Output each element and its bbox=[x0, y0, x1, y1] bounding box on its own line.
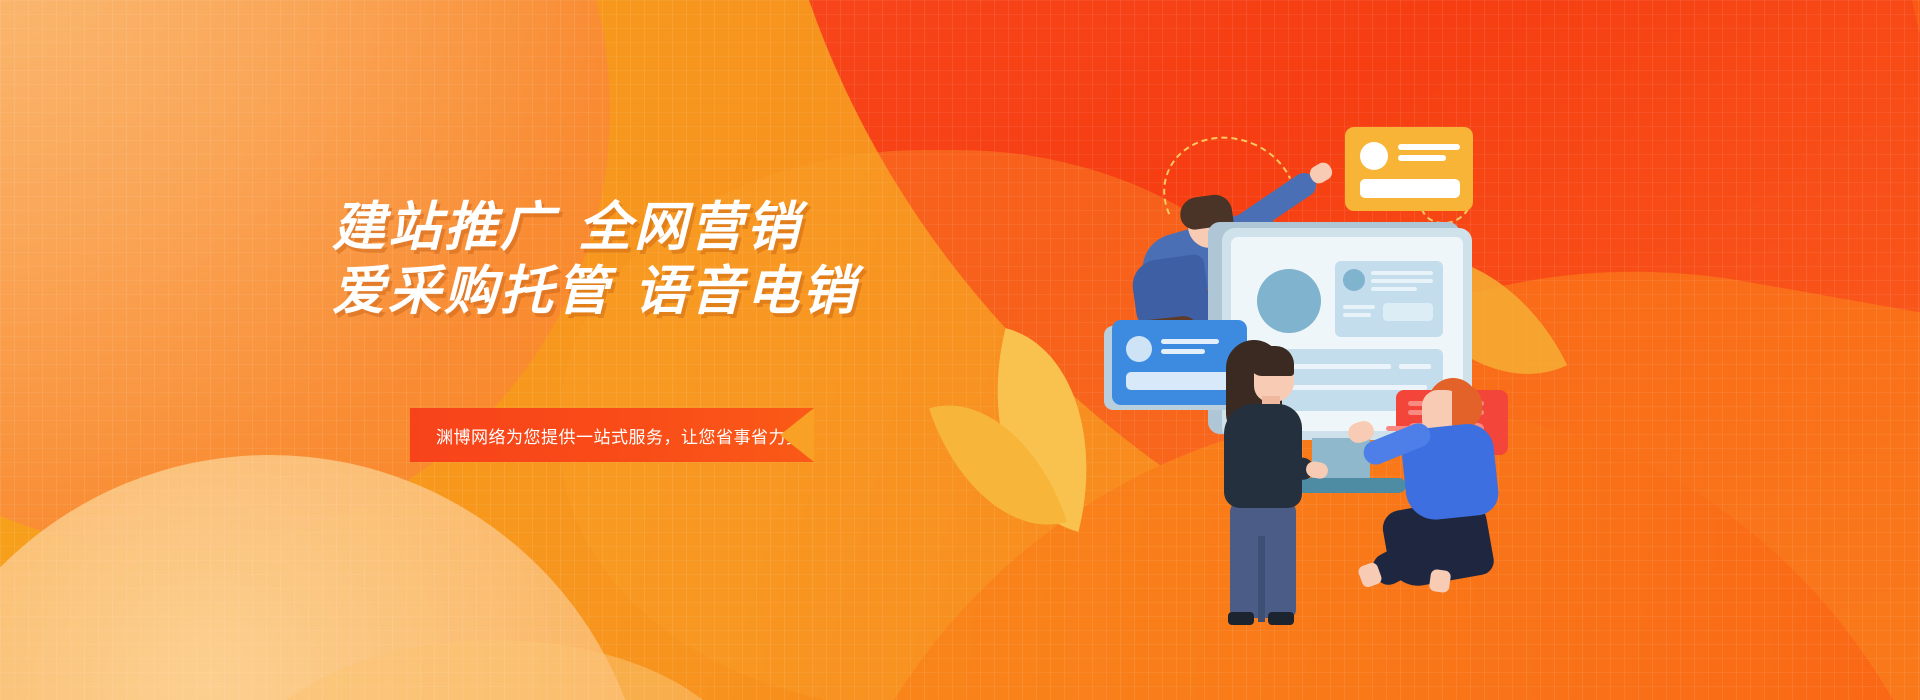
headline-line2-part-a: 爱采购托管 bbox=[332, 262, 612, 321]
yellow-notification-card bbox=[1345, 127, 1473, 211]
bottom-left-circle-blob bbox=[0, 455, 650, 700]
card-text-line bbox=[1398, 144, 1460, 150]
screen-avatar-icon bbox=[1257, 269, 1321, 333]
person-man-right bbox=[1376, 378, 1506, 598]
woman-shoe-left bbox=[1228, 612, 1254, 625]
woman-leg-split bbox=[1258, 536, 1265, 622]
headline-line2-part-b: 语音电销 bbox=[634, 262, 858, 321]
promo-banner: 建站推广全网营销 爱采购托管语音电销 渊博网络为您提供一站式服务，让您省事省力更… bbox=[0, 0, 1920, 700]
card-avatar-icon bbox=[1126, 336, 1152, 362]
banner-copy-block: 建站推广全网营销 爱采购托管语音电销 渊博网络为您提供一站式服务，让您省事省力更… bbox=[332, 196, 1092, 324]
panel-avatar-icon bbox=[1343, 269, 1365, 291]
person-woman-center bbox=[1210, 340, 1320, 640]
woman-hair-front bbox=[1250, 346, 1294, 376]
panel-text-line bbox=[1371, 271, 1433, 275]
panel-text-line bbox=[1371, 279, 1433, 283]
tagline-text: 渊博网络为您提供一站式服务，让您省事省力更省心 bbox=[410, 423, 839, 448]
card-button-shape bbox=[1360, 179, 1460, 198]
card-text-line bbox=[1161, 349, 1205, 354]
headline-line-2: 爱采购托管语音电销 bbox=[332, 260, 1092, 324]
woman-shoe-right bbox=[1268, 612, 1294, 625]
card-avatar-icon bbox=[1360, 142, 1388, 170]
man-hair-side bbox=[1452, 384, 1482, 428]
ribbon-chevron-notch bbox=[780, 408, 814, 462]
panel-button-shape bbox=[1383, 303, 1433, 321]
headline-line1-part-a: 建站推广 bbox=[332, 198, 556, 257]
screen-profile-panel bbox=[1335, 261, 1443, 337]
panel-text-line bbox=[1371, 287, 1417, 291]
bottom-left-soft-blob bbox=[235, 640, 755, 700]
panel-text-line bbox=[1343, 305, 1375, 309]
headline-line1-part-b: 全网营销 bbox=[578, 198, 802, 257]
card-text-line bbox=[1398, 155, 1446, 161]
background-decorations bbox=[0, 0, 1920, 700]
grid-texture-overlay bbox=[0, 0, 1920, 700]
panel-text-line bbox=[1343, 313, 1371, 317]
man-foot-right bbox=[1429, 569, 1452, 594]
tagline-ribbon: 渊博网络为您提供一站式服务，让您省事省力更省心 bbox=[410, 408, 814, 462]
hero-illustration bbox=[1100, 90, 1500, 610]
list-text-line bbox=[1399, 364, 1431, 369]
headline-line-1: 建站推广全网营销 bbox=[332, 196, 1092, 260]
